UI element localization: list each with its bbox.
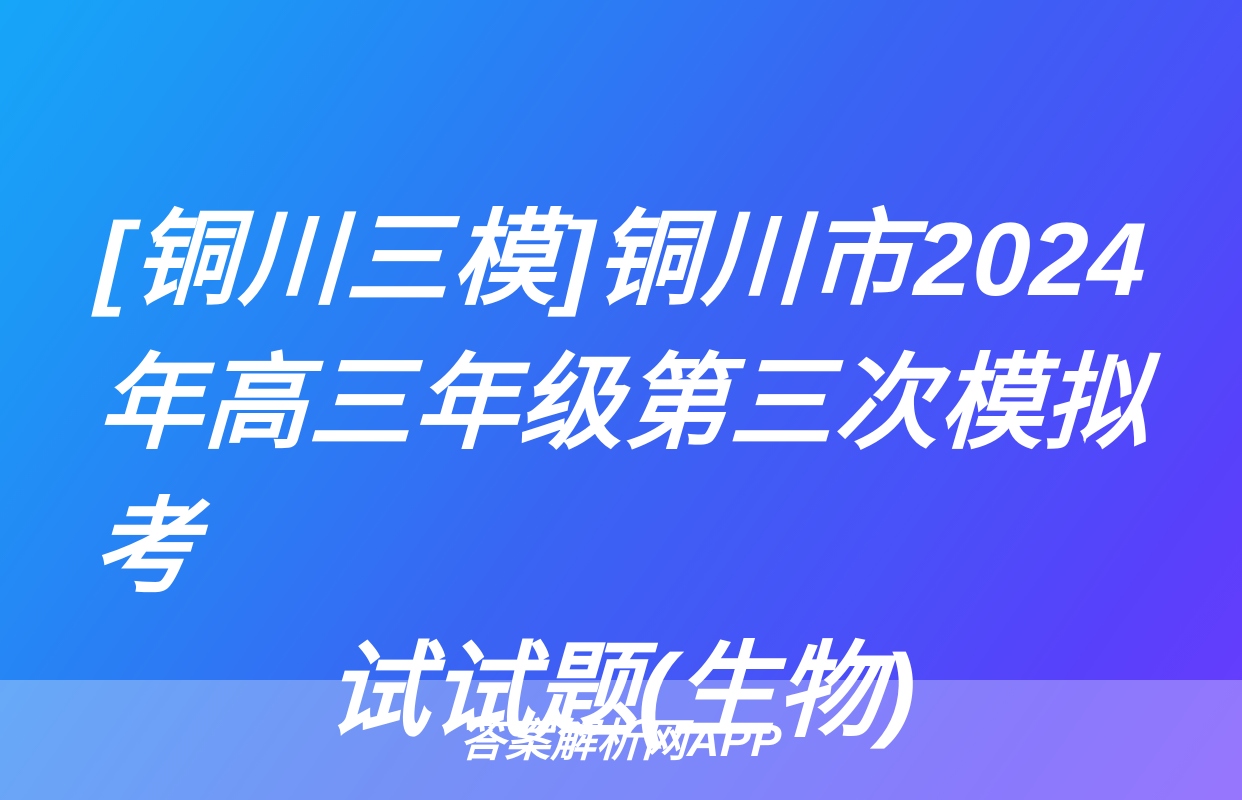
- title-line-2: 年高三年级第三次模拟考: [91, 332, 1151, 620]
- title-line-1: [铜川三模]铜川市2024: [93, 188, 1148, 332]
- title-line-3: 试试题(生物): [93, 620, 1148, 764]
- exam-cover-card: [铜川三模]铜川市2024 年高三年级第三次模拟考 试试题(生物) 答案解析网A…: [0, 0, 1242, 800]
- page-title: [铜川三模]铜川市2024 年高三年级第三次模拟考 试试题(生物): [96, 188, 1146, 764]
